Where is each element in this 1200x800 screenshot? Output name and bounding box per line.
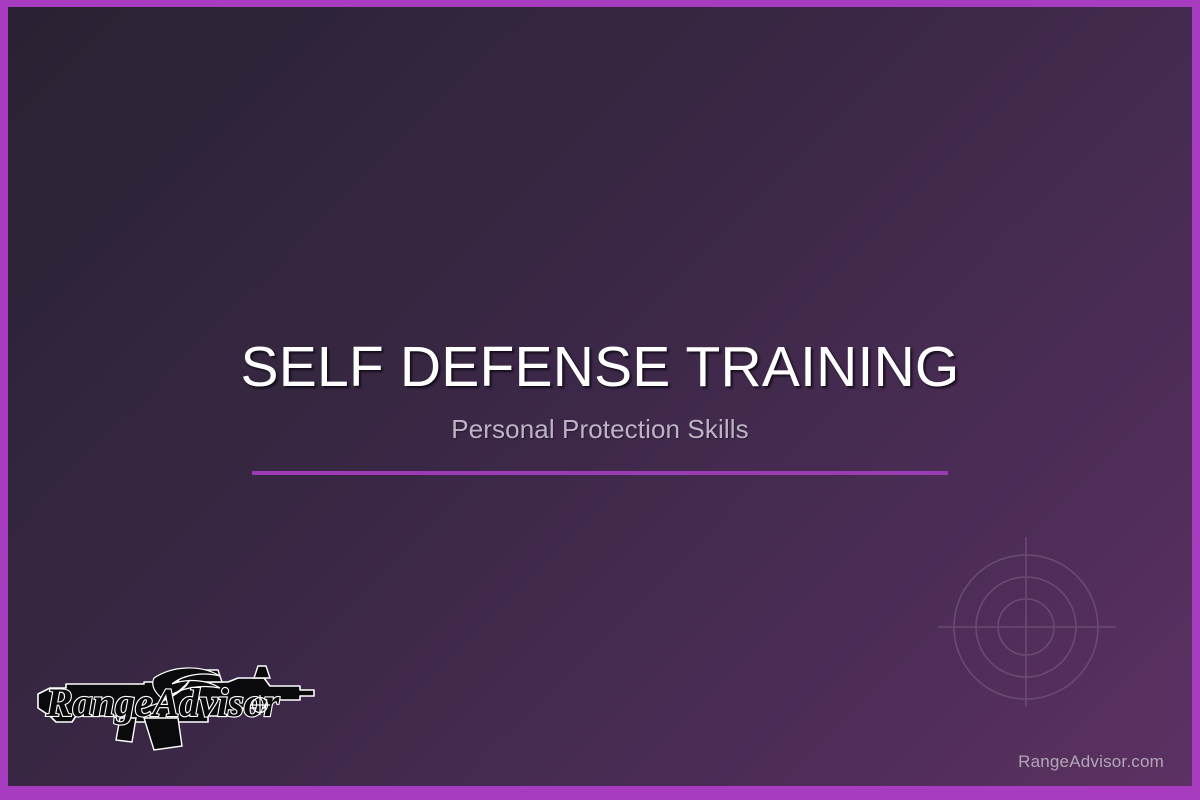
page-subtitle: Personal Protection Skills (8, 414, 1192, 445)
title-divider (252, 471, 948, 475)
page-title: SELF DEFENSE TRAINING (8, 337, 1192, 398)
slide-canvas: SELF DEFENSE TRAINING Personal Protectio… (8, 7, 1192, 786)
brand-wordmark: RangeAdvisor (45, 680, 280, 725)
footer-url-watermark: RangeAdvisor.com (1018, 752, 1164, 772)
title-block: SELF DEFENSE TRAINING Personal Protectio… (8, 337, 1192, 475)
presentation-slide: SELF DEFENSE TRAINING Personal Protectio… (0, 0, 1200, 800)
brand-logo: RangeAdvisor (32, 660, 318, 752)
crosshair-target-icon (920, 511, 1116, 707)
